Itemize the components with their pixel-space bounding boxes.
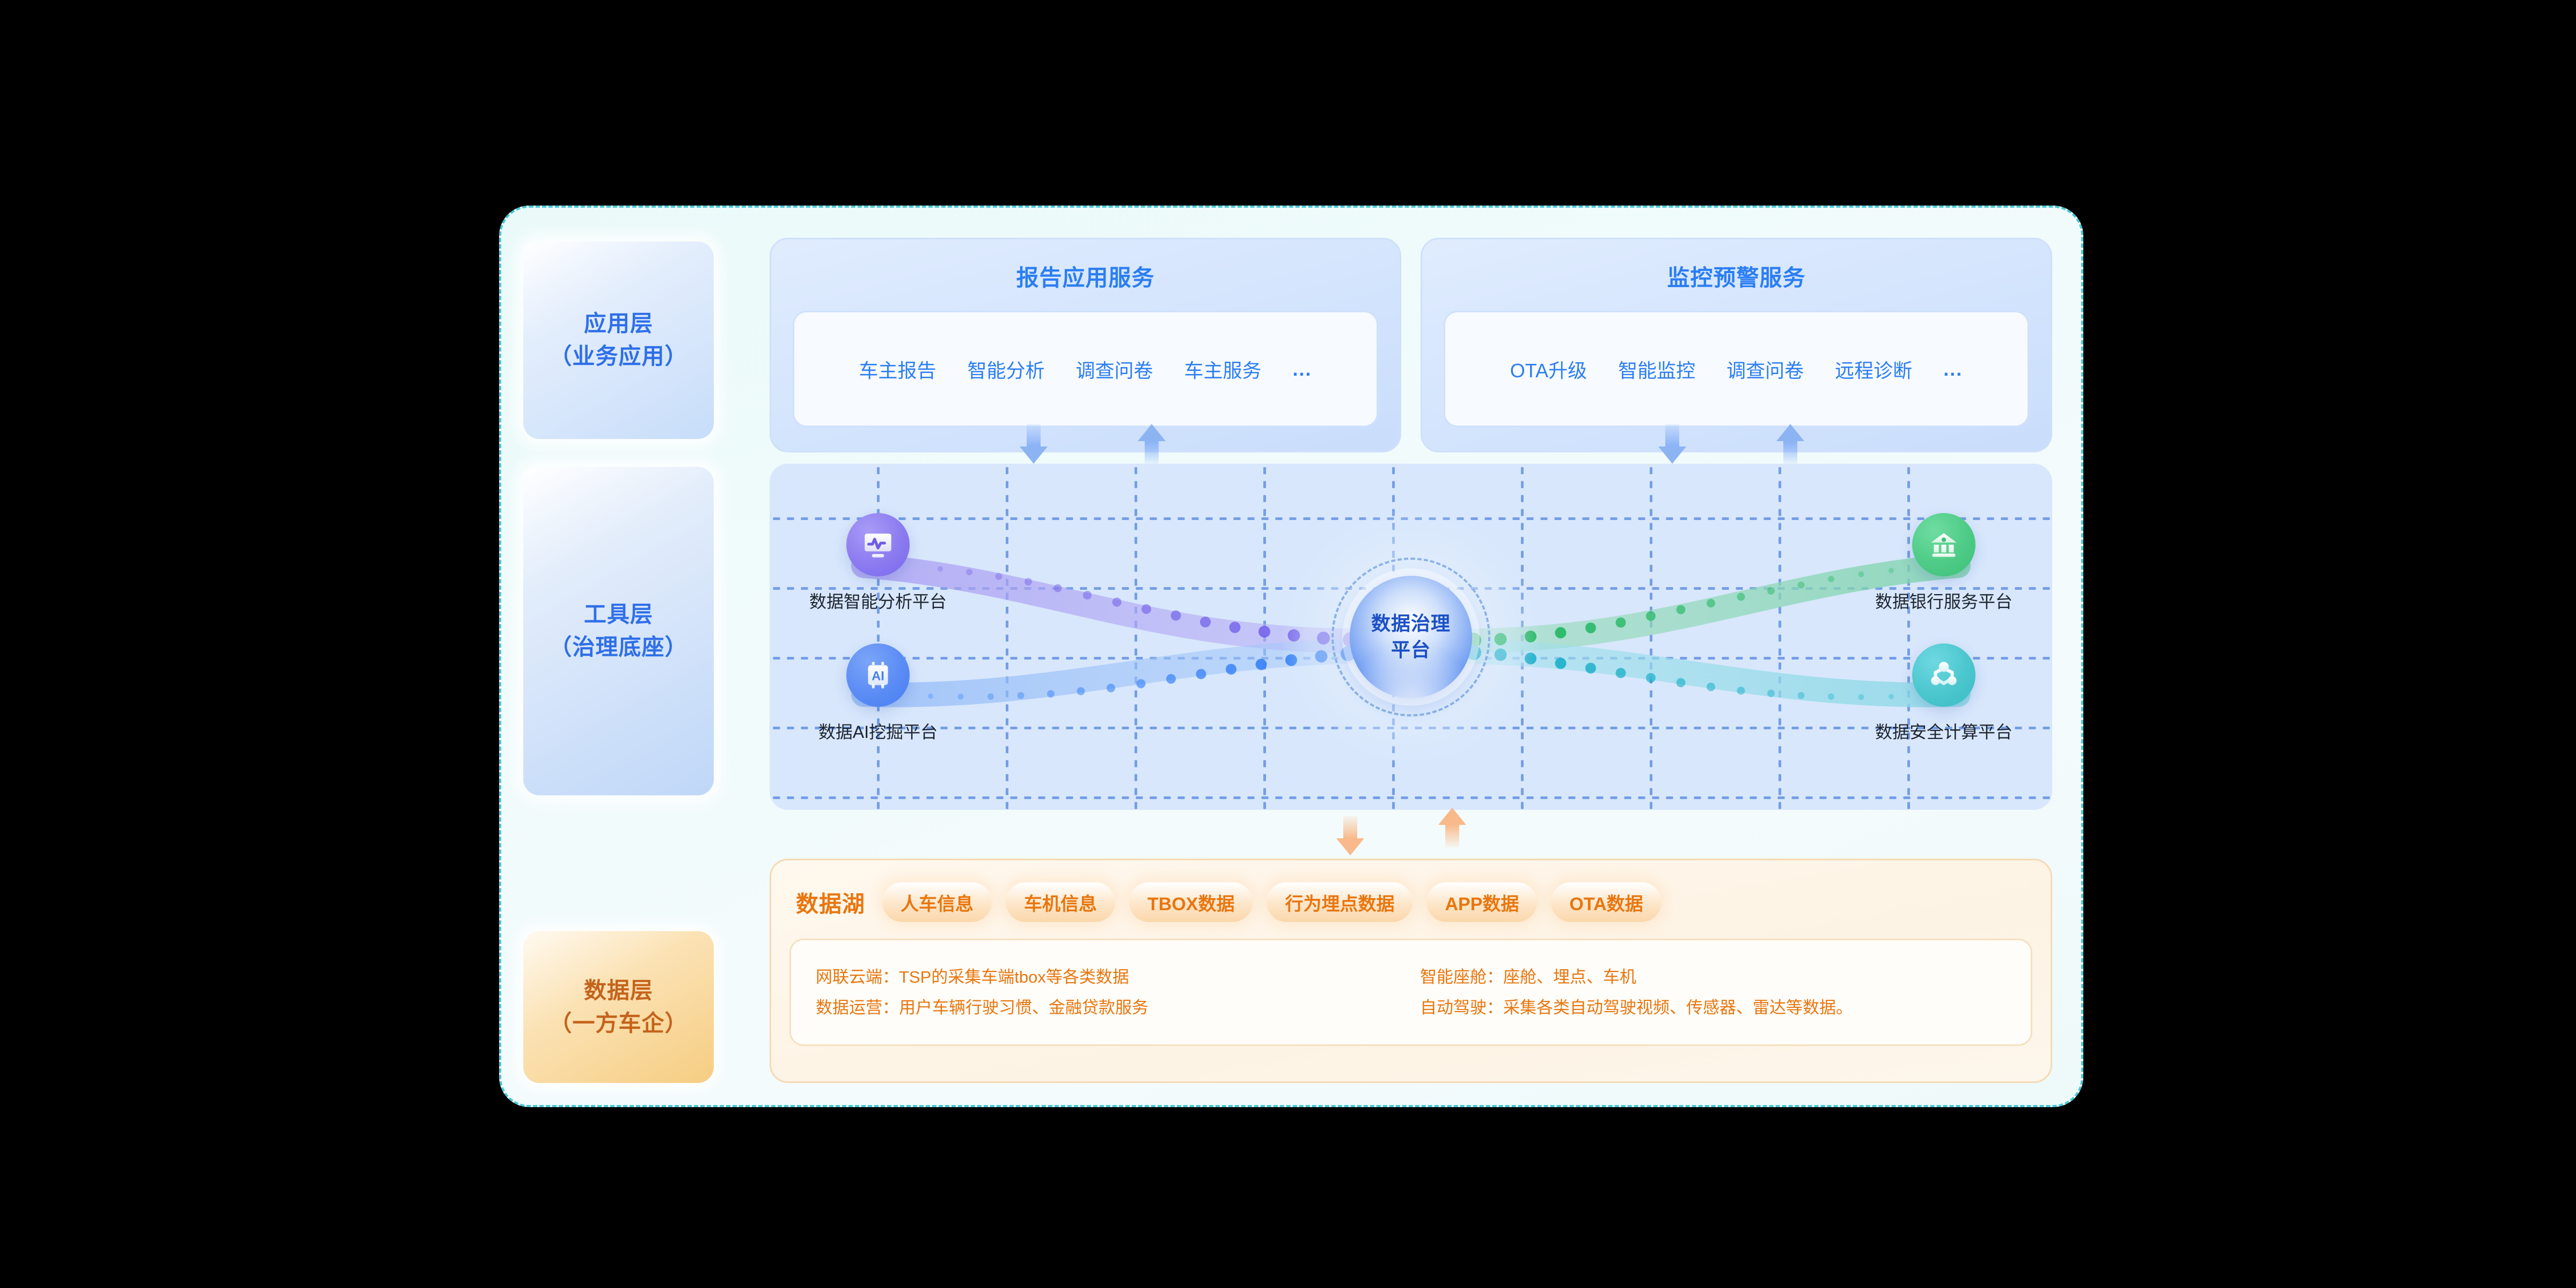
node-label: 数据智能分析平台	[809, 588, 947, 613]
service-card-monitoring[interactable]: 监控预警服务 OTA升级 智能监控 调查问卷 远程诊断 ...	[1421, 238, 2052, 452]
service-tag[interactable]: 智能分析	[967, 355, 1044, 383]
node-label: 数据安全计算平台	[1875, 719, 2012, 743]
monitor-pulse-icon	[846, 513, 910, 576]
svg-text:AI: AI	[872, 669, 884, 683]
hub-label-line1: 数据治理	[1371, 611, 1451, 637]
node-bank-platform[interactable]: 数据银行服务平台	[1863, 513, 2024, 613]
data-lake-tag[interactable]: OTA数据	[1551, 882, 1661, 922]
data-lake-tag[interactable]: 车机信息	[1006, 882, 1115, 922]
arrow-down-monitoring-icon	[1658, 424, 1686, 464]
hub-label: 数据治理 平台	[1371, 611, 1451, 663]
layer-chip-tool[interactable]: 工具层 （治理底座）	[523, 467, 714, 795]
data-lake-details-left: 网联云端：TSP的采集车端tbox等各类数据 数据运营：用户车辆行驶习惯、金融贷…	[816, 958, 1402, 1026]
layer-chip-data[interactable]: 数据层 （一方车企）	[523, 931, 714, 1083]
layer-chip-application-text: 应用层 （业务应用）	[549, 308, 687, 373]
governance-hub[interactable]: 数据治理 平台	[1282, 508, 1540, 766]
service-tag-group: OTA升级 智能监控 调查问卷 远程诊断 ...	[1444, 311, 2029, 427]
data-lake-tag[interactable]: 行为埋点数据	[1267, 882, 1413, 922]
service-card-report[interactable]: 报告应用服务 车主报告 智能分析 调查问卷 车主服务 ...	[770, 238, 1401, 452]
data-lake-details: 网联云端：TSP的采集车端tbox等各类数据 数据运营：用户车辆行驶习惯、金融贷…	[789, 939, 2032, 1046]
layer-title: 应用层	[549, 308, 687, 340]
layer-chip-application[interactable]: 应用层 （业务应用）	[523, 241, 714, 439]
service-tag[interactable]: 智能监控	[1618, 355, 1695, 383]
arrow-up-monitoring-icon	[1776, 424, 1804, 464]
service-tag-group: 车主报告 智能分析 调查问卷 车主服务 ...	[793, 311, 1378, 427]
arrow-down-datalake-icon	[1336, 816, 1364, 855]
service-tag[interactable]: 远程诊断	[1835, 355, 1912, 383]
tool-layer-canvas: 数据治理 平台 数	[770, 464, 2052, 810]
layer-subtitle: （一方车企）	[549, 1007, 687, 1040]
arrow-down-report-icon	[1020, 424, 1048, 464]
detail-line: 网联云端：TSP的采集车端tbox等各类数据	[816, 969, 1402, 985]
node-security-platform[interactable]: 数据安全计算平台	[1863, 643, 2024, 743]
service-tag[interactable]: OTA升级	[1510, 355, 1587, 383]
detail-line: 自动驾驶：采集各类自动驾驶视频、传感器、雷达等数据。	[1420, 999, 2006, 1016]
application-layer-row: 报告应用服务 车主报告 智能分析 调查问卷 车主服务 ... 监控预警服务 OT…	[770, 238, 2052, 452]
data-lake-tag[interactable]: 人车信息	[882, 882, 992, 922]
service-tag[interactable]: 调查问卷	[1075, 355, 1153, 383]
ai-chip-icon: AI	[846, 643, 910, 707]
layer-chip-tool-text: 工具层 （治理底座）	[549, 598, 687, 664]
hub-label-line2: 平台	[1371, 637, 1451, 663]
layer-chip-data-text: 数据层 （一方车企）	[549, 975, 687, 1040]
detail-line: 智能座舱：座舱、埋点、车机	[1420, 969, 2006, 985]
bank-icon	[1912, 513, 1975, 576]
node-label: 数据AI挖掘平台	[818, 719, 938, 743]
layer-subtitle: （业务应用）	[549, 340, 687, 373]
node-ai-mining-platform[interactable]: AI 数据AI挖掘平台	[797, 643, 958, 743]
service-tag-more[interactable]: ...	[1943, 358, 1963, 380]
layer-subtitle: （治理底座）	[549, 631, 687, 664]
hub-sphere: 数据治理 平台	[1350, 576, 1472, 698]
arrow-up-report-icon	[1138, 424, 1166, 464]
service-tag[interactable]: 车主服务	[1184, 355, 1262, 383]
detail-line: 数据运营：用户车辆行驶习惯、金融贷款服务	[816, 999, 1402, 1016]
node-analysis-platform[interactable]: 数据智能分析平台	[797, 513, 958, 613]
service-tag[interactable]: 调查问卷	[1726, 355, 1804, 383]
diagram-canvas: 应用层 （业务应用） 工具层 （治理底座） 数据层 （一方车企） 报告应用服务 …	[0, 0, 2576, 1288]
network-shield-icon	[1912, 643, 1975, 707]
service-card-title: 报告应用服务	[1016, 260, 1154, 292]
service-card-title: 监控预警服务	[1667, 260, 1805, 292]
arrow-up-datalake-icon	[1438, 808, 1466, 847]
data-lake-header: 数据湖 人车信息 车机信息 TBOX数据 行为埋点数据 APP数据 OTA数据	[789, 876, 2032, 928]
service-tag-more[interactable]: ...	[1293, 358, 1312, 380]
service-tag[interactable]: 车主报告	[859, 355, 936, 383]
data-lake-tag[interactable]: APP数据	[1426, 882, 1537, 922]
layer-title: 数据层	[549, 975, 687, 1007]
node-label: 数据银行服务平台	[1875, 588, 2012, 613]
data-lake-panel: 数据湖 人车信息 车机信息 TBOX数据 行为埋点数据 APP数据 OTA数据 …	[770, 859, 2052, 1083]
data-lake-tag[interactable]: TBOX数据	[1129, 882, 1253, 922]
data-lake-title: 数据湖	[796, 886, 865, 919]
layer-title: 工具层	[549, 598, 687, 631]
data-lake-details-right: 智能座舱：座舱、埋点、车机 自动驾驶：采集各类自动驾驶视频、传感器、雷达等数据。	[1402, 958, 2006, 1026]
